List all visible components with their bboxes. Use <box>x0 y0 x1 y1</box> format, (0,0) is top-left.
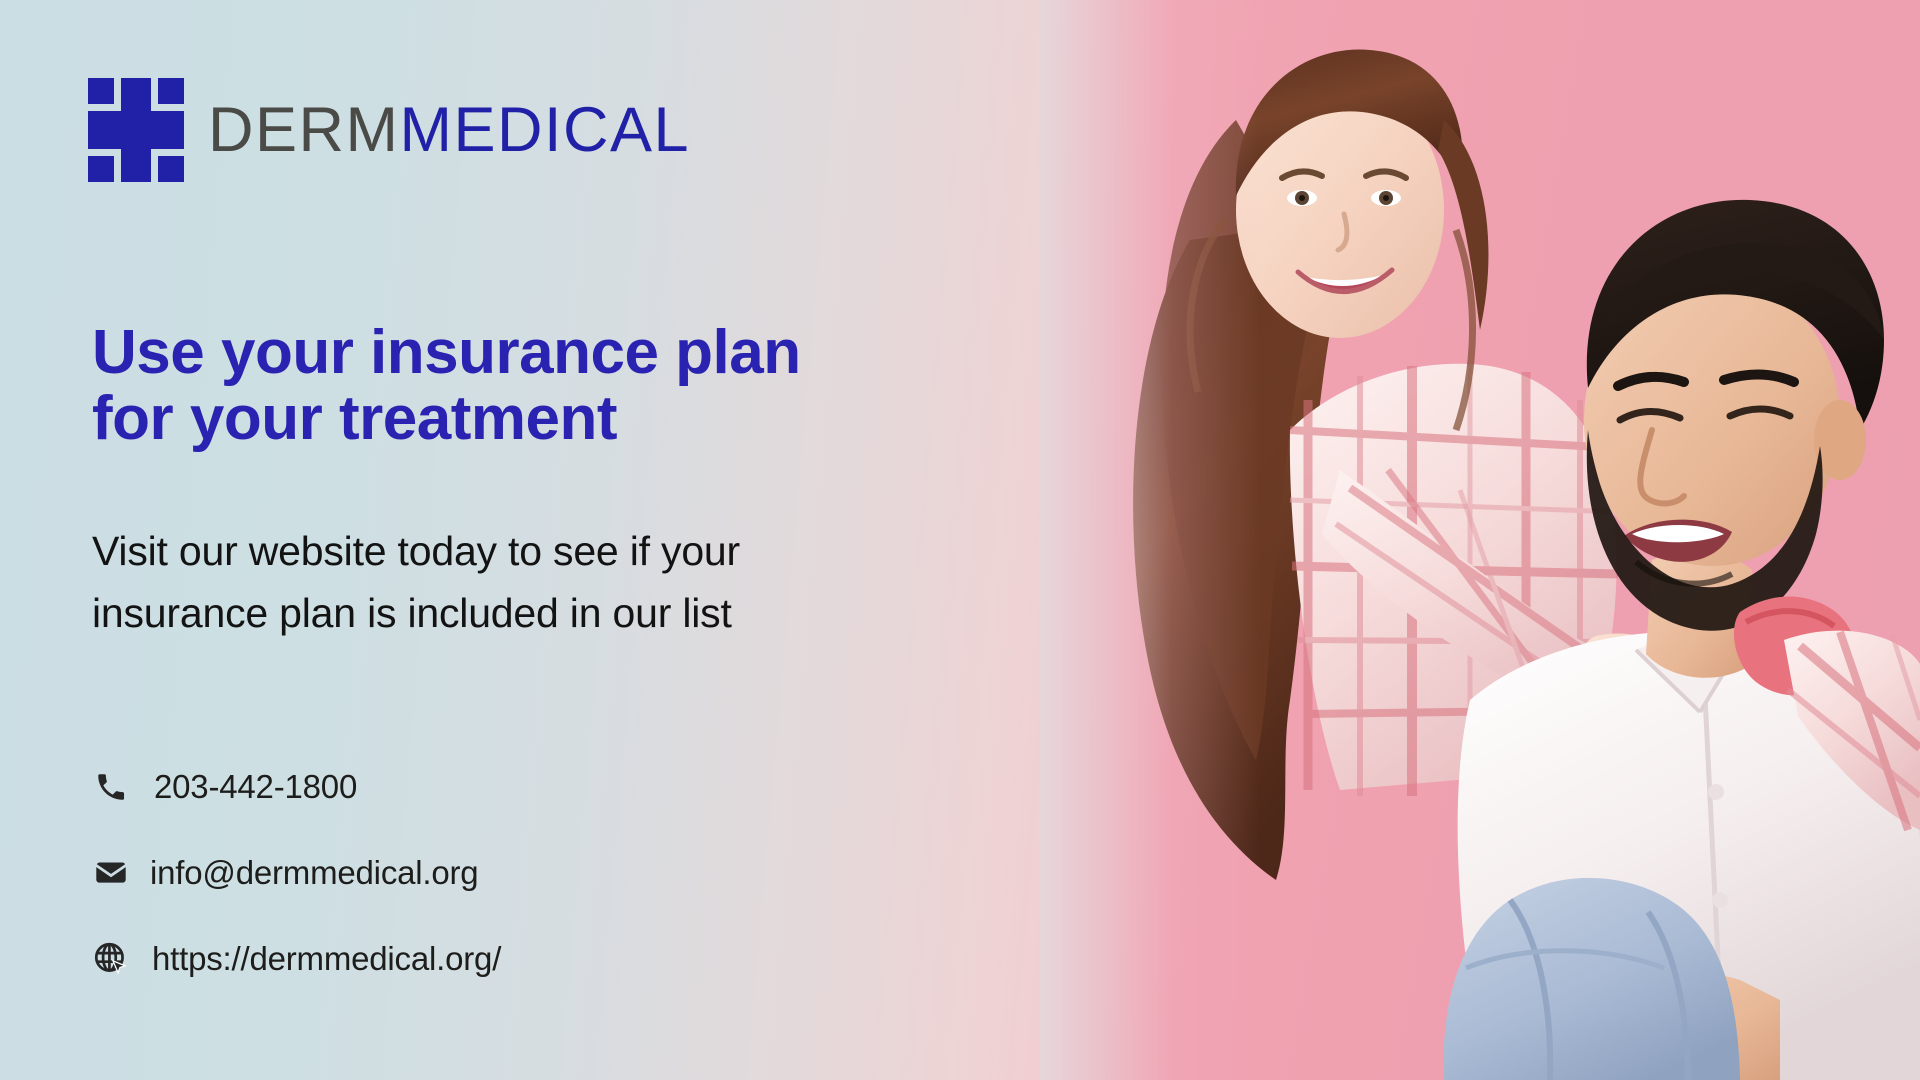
body-line-2: insurance plan is included in our list <box>92 582 952 644</box>
promo-banner: DERMMEDICAL Use your insurance plan for … <box>0 0 1920 1080</box>
contact-phone[interactable]: 203-442-1800 <box>90 766 501 808</box>
body-copy: Visit our website today to see if your i… <box>92 520 952 645</box>
contact-email[interactable]: info@dermmedical.org <box>90 852 501 894</box>
contact-email-label: info@dermmedical.org <box>150 854 478 892</box>
contact-list: 203-442-1800 info@dermmedical.org <box>90 766 501 980</box>
body-line-1: Visit our website today to see if your <box>92 520 952 582</box>
headline-line-2: for your treatment <box>92 386 1032 452</box>
brand-name-medical: MEDICAL <box>400 99 691 162</box>
headline: Use your insurance plan for your treatme… <box>92 320 1032 451</box>
contact-phone-label: 203-442-1800 <box>150 768 357 806</box>
globe-cursor-icon <box>90 938 132 980</box>
phone-icon <box>90 766 132 808</box>
brand-name-derm: DERM <box>208 99 400 162</box>
contact-website[interactable]: https://dermmedical.org/ <box>90 938 501 980</box>
envelope-icon <box>90 852 132 894</box>
brand-wordmark: DERMMEDICAL <box>208 99 690 162</box>
brand-logo[interactable]: DERMMEDICAL <box>88 78 690 182</box>
couple-photo <box>1040 0 1920 1080</box>
headline-line-1: Use your insurance plan <box>92 320 1032 386</box>
medical-cross-grid-icon <box>88 78 184 182</box>
contact-website-label: https://dermmedical.org/ <box>150 940 501 978</box>
photo-left-fade <box>1040 0 1260 1080</box>
